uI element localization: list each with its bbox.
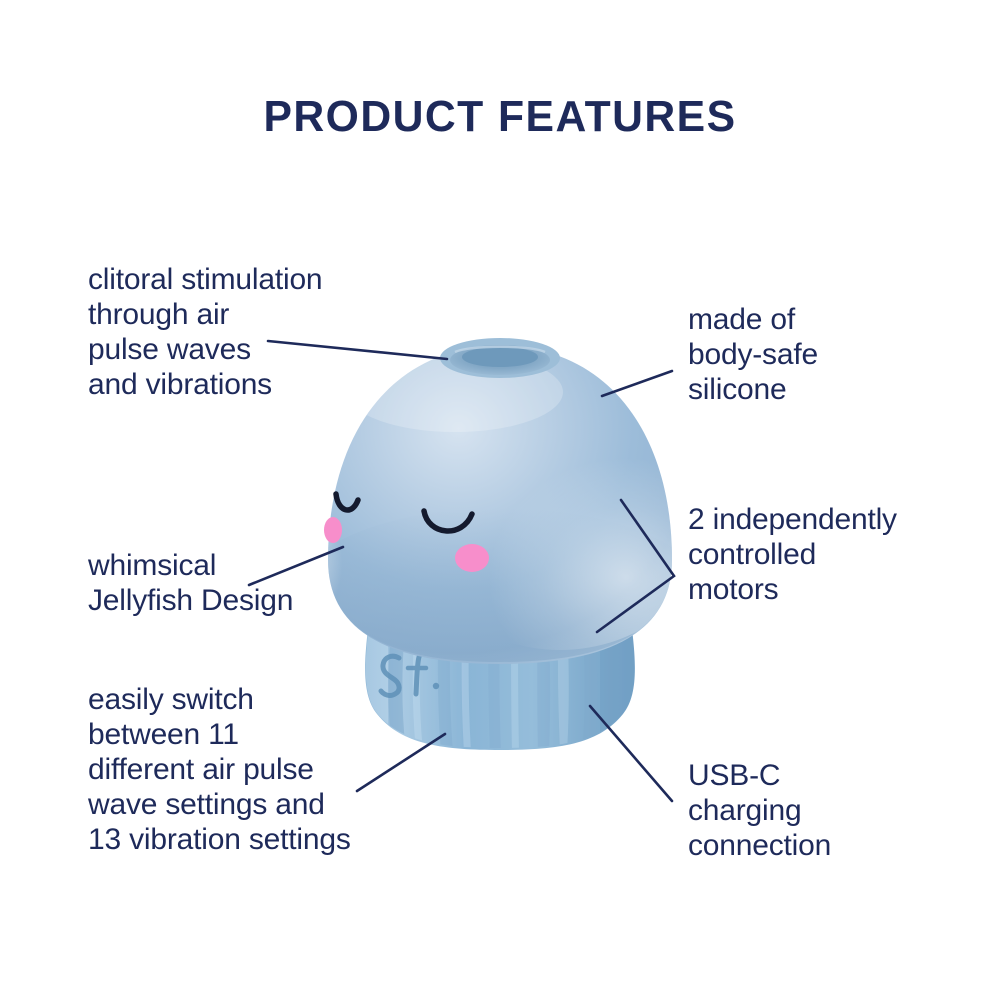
callout-settings: easily switch between 11 different air p… [88, 682, 418, 857]
callout-silicone: made of body-safe silicone [688, 302, 978, 407]
product-features-infographic: PRODUCT FEATURES [0, 0, 1000, 1000]
callout-usb-c: USB-C charging connection [688, 758, 978, 863]
callout-air-pulse: clitoral stimulation through air pulse w… [88, 262, 388, 402]
callout-whimsical-design: whimsical Jellyfish Design [88, 548, 388, 618]
callout-motors: 2 independently controlled motors [688, 502, 988, 607]
air-pulse-nozzle [440, 338, 560, 378]
